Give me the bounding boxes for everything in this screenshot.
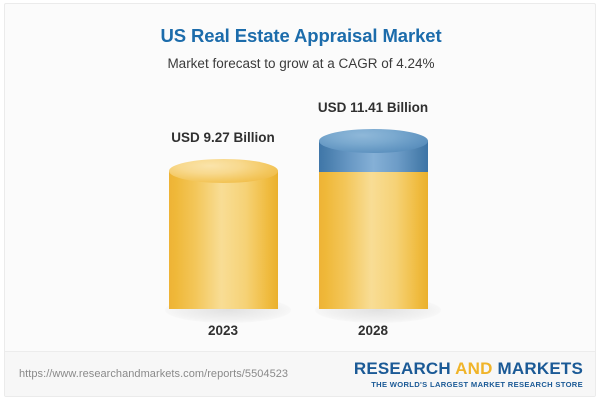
footer: https://www.researchandmarkets.com/repor… [5, 352, 596, 397]
chart-plot-area: USD 9.27 Billion 2023 USD 11.41 Billion [5, 4, 596, 348]
logo-tagline: THE WORLD'S LARGEST MARKET RESEARCH STOR… [354, 380, 583, 389]
logo-word-markets: MARKETS [493, 359, 583, 378]
logo-word-research: RESEARCH [354, 359, 455, 378]
category-label-2028: 2028 [283, 323, 463, 338]
logo-word-and: AND [455, 359, 492, 378]
research-and-markets-logo[interactable]: RESEARCH AND MARKETS THE WORLD'S LARGEST… [354, 359, 583, 389]
bar-segment-base-2028 [319, 171, 428, 309]
report-url-link[interactable]: https://www.researchandmarkets.com/repor… [19, 368, 288, 380]
value-label-2028: USD 11.41 Billion [283, 100, 463, 115]
bar-top-ellipse-2028 [319, 129, 428, 153]
bar-group-2028[interactable]: USD 11.41 Billion 2028 [5, 4, 596, 348]
logo-wordmark: RESEARCH AND MARKETS [354, 359, 583, 379]
chart-card: US Real Estate Appraisal Market Market f… [4, 3, 596, 397]
